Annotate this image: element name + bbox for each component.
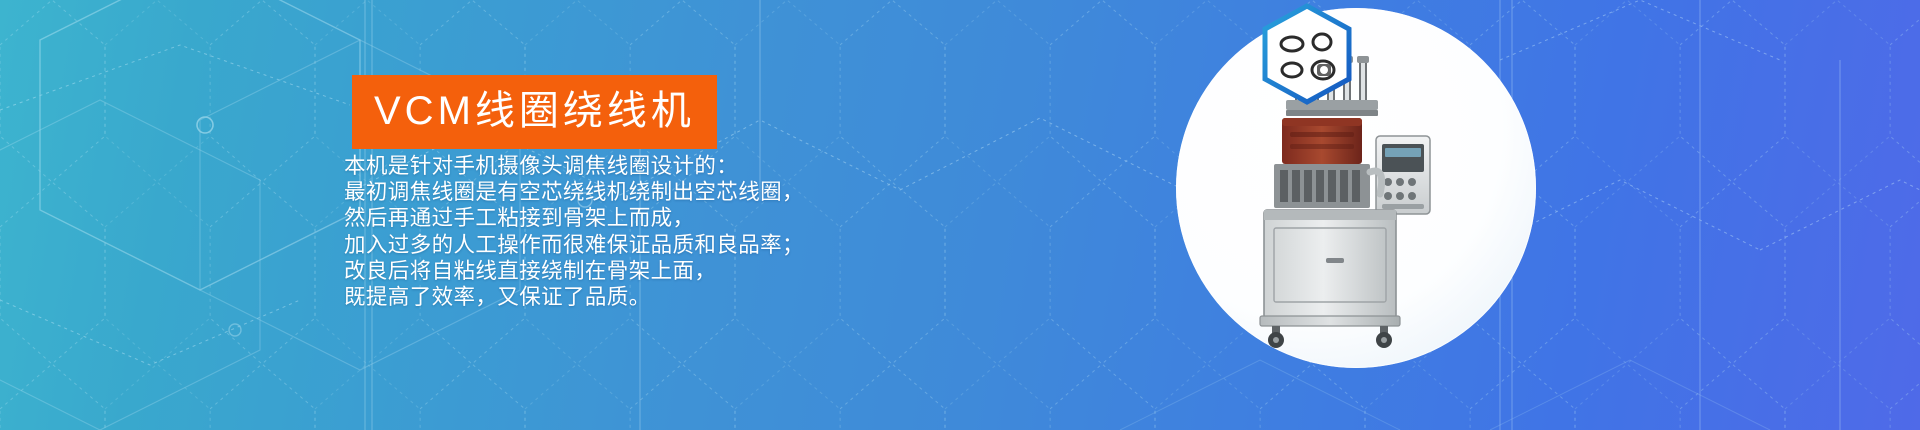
description-line-1: 本机是针对手机摄像头调焦线圈设计的： [344,153,804,179]
description-block: 本机是针对手机摄像头调焦线圈设计的： 最初调焦线圈是有空芯绕线机绕制出空芯线圈，… [344,153,804,310]
product-image-area [1110,0,1670,430]
description-line-2: 最初调焦线圈是有空芯绕线机绕制出空芯线圈， [344,179,804,205]
description-line-5: 改良后将自粘线直接绕制在骨架上面， [344,258,804,284]
title-container: VCM线圈绕线机 [352,75,717,149]
description-line-6: 既提高了效率，又保证了品质。 [344,284,804,310]
promo-banner: VCM线圈绕线机 本机是针对手机摄像头调焦线圈设计的： 最初调焦线圈是有空芯绕线… [0,0,1920,430]
description-line-4: 加入过多的人工操作而很难保证品质和良品率； [344,232,804,258]
banner-content: VCM线圈绕线机 本机是针对手机摄像头调焦线圈设计的： 最初调焦线圈是有空芯绕线… [0,0,1060,430]
description-line-3: 然后再通过手工粘接到骨架上而成， [344,205,804,231]
page-title: VCM线圈绕线机 [352,75,717,149]
coil-products-hexagon-badge [1259,2,1355,106]
